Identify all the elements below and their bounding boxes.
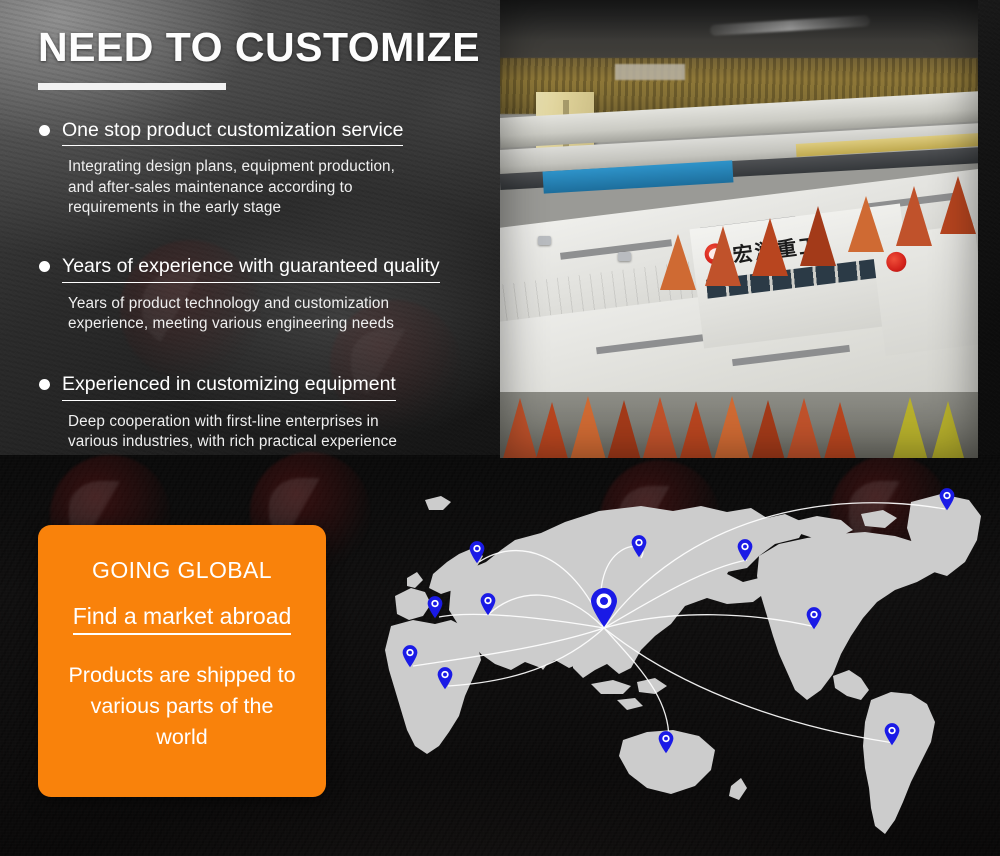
map-pin-greenland[interactable] — [939, 488, 956, 511]
feature-title: Years of experience with guaranteed qual… — [62, 254, 440, 282]
feature-body: Deep cooperation with first-line enterpr… — [68, 412, 494, 453]
feature-list: One stop product customization service I… — [32, 118, 494, 477]
map-pin-alaska[interactable] — [737, 539, 754, 562]
title-underline-rule — [38, 83, 226, 90]
map-pin-russia[interactable] — [631, 535, 648, 558]
map-pin-mediterranean[interactable] — [427, 596, 444, 619]
photo-tree-grove — [500, 392, 978, 458]
map-pin-north-america[interactable] — [806, 607, 823, 630]
feature-item-3: Experienced in customizing equipment Dee… — [32, 372, 494, 452]
filled-circle-icon — [39, 261, 50, 272]
filled-circle-icon — [39, 379, 50, 390]
photo-roof-vent — [538, 236, 551, 245]
map-pin-central-africa[interactable] — [437, 667, 454, 690]
feature-item-2: Years of experience with guaranteed qual… — [32, 254, 494, 334]
map-pin-central-asia[interactable] — [480, 593, 497, 616]
page-title: NEED TO CUSTOMIZE — [38, 26, 480, 69]
map-pin-australia[interactable] — [658, 731, 675, 754]
feature-body: Years of product technology and customiz… — [68, 294, 494, 335]
feature-item-1: One stop product customization service I… — [32, 118, 494, 218]
promo-page: NEED TO CUSTOMIZE One stop product custo… — [0, 0, 1000, 856]
card-body: Products are shipped to various parts of… — [64, 660, 300, 754]
card-link[interactable]: Find a market abroad — [73, 603, 292, 635]
feature-title: Experienced in customizing equipment — [62, 372, 396, 400]
feature-title: One stop product customization service — [62, 118, 403, 146]
feature-body: Integrating design plans, equipment prod… — [68, 157, 494, 218]
going-global-card[interactable]: GOING GLOBAL Find a market abroad Produc… — [38, 525, 326, 797]
card-kicker: GOING GLOBAL — [92, 557, 272, 584]
photo-distant-building — [615, 64, 685, 80]
factory-photo: 宏润重工 — [500, 0, 978, 458]
map-pin-hub-china[interactable] — [589, 588, 619, 628]
red-circle-logo-icon — [885, 251, 907, 273]
world-map — [355, 478, 1000, 856]
map-pin-scandinavia[interactable] — [469, 541, 486, 564]
filled-circle-icon — [39, 125, 50, 136]
map-pin-west-africa[interactable] — [402, 645, 419, 668]
map-pin-south-america[interactable] — [884, 723, 901, 746]
photo-roof-vent — [618, 252, 631, 261]
